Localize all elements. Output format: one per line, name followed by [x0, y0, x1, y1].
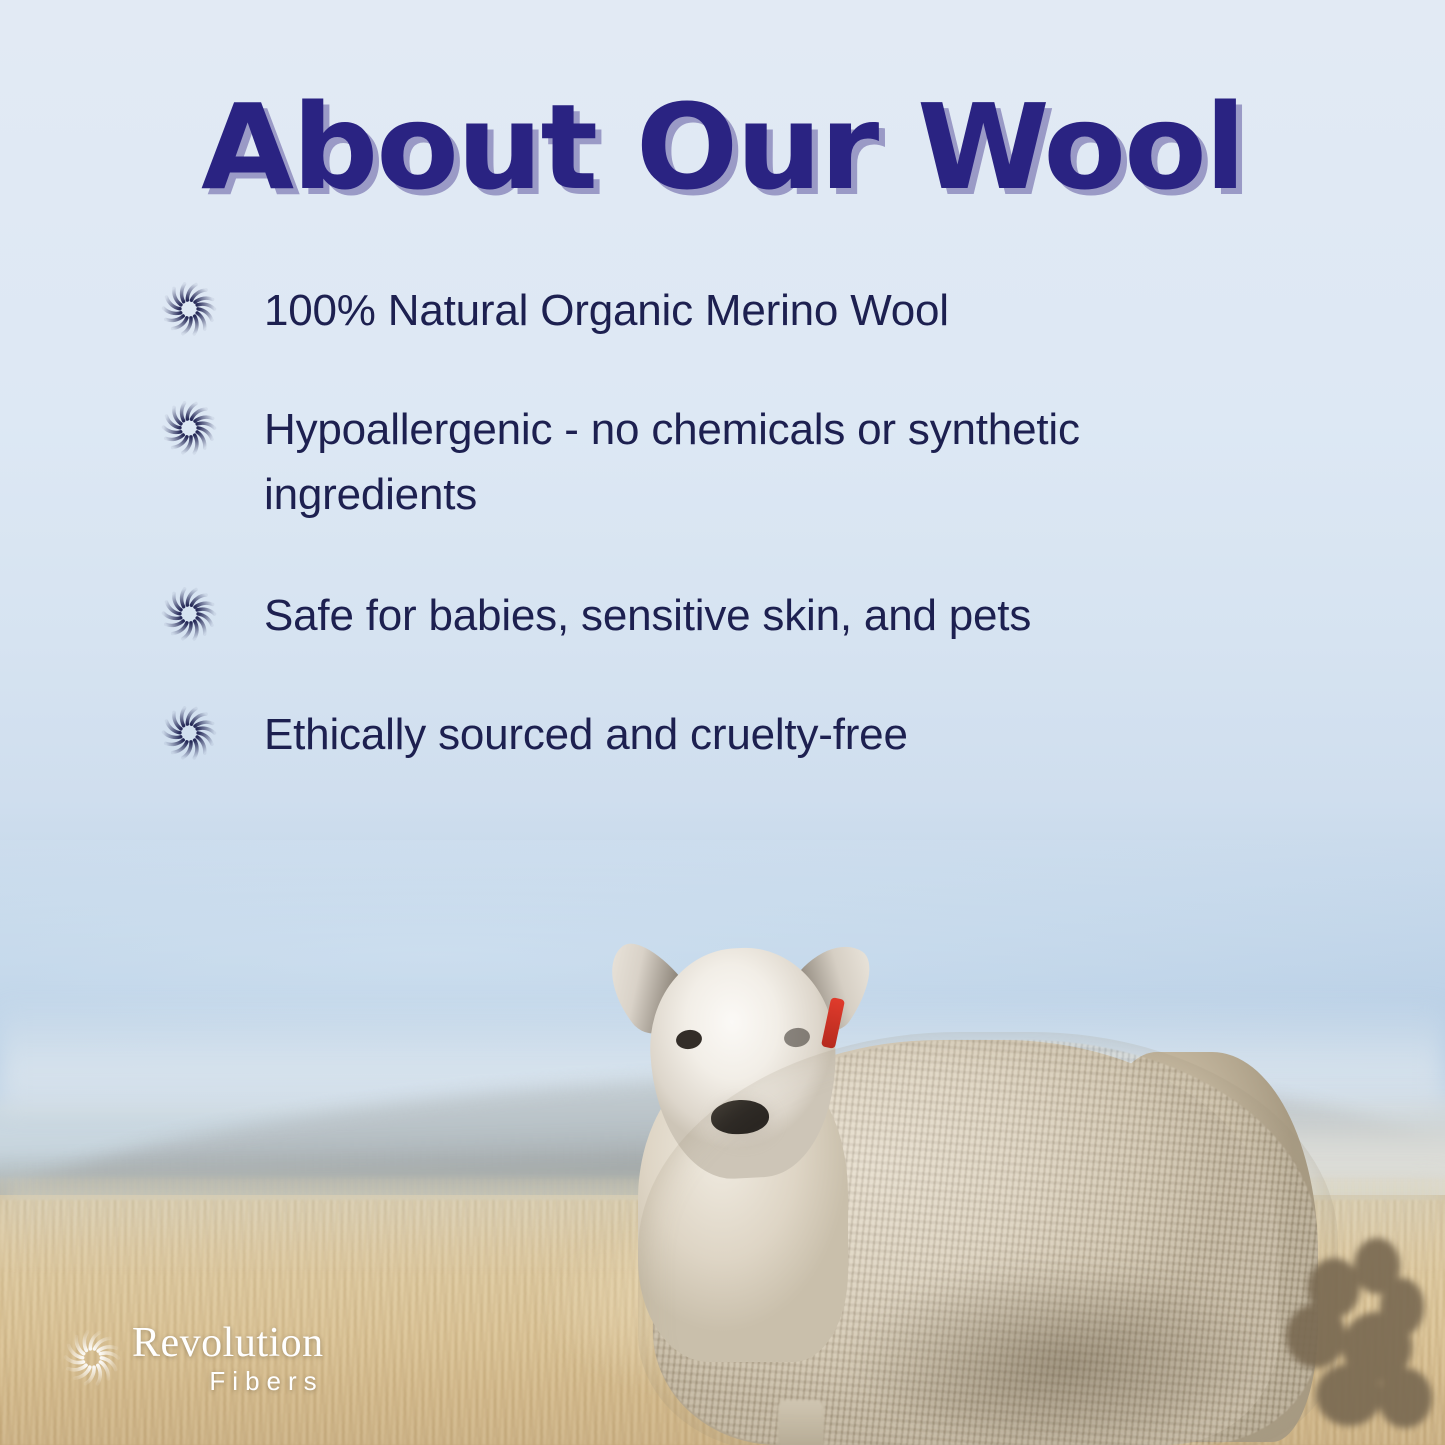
spiral-swirl-logo-mark: [62, 1328, 122, 1388]
sheep-edge-softening: [638, 1032, 1338, 1445]
sheep-photo: [548, 912, 1338, 1445]
list-item: Ethically sourced and cruelty-free: [160, 702, 1300, 767]
list-item-label: Safe for babies, sensitive skin, and pet…: [264, 583, 1031, 648]
shrub-icon: [1268, 1218, 1445, 1445]
list-item: Hypoallergenic - no chemicals or synthet…: [160, 397, 1300, 527]
infographic-canvas: About Our Wool: [0, 0, 1445, 1445]
spiral-swirl-icon: [160, 280, 218, 338]
brand-name: Revolution: [132, 1322, 324, 1364]
spiral-swirl-icon: [160, 585, 218, 643]
feature-list: 100% Natural Organic Merino Wool: [160, 278, 1300, 822]
list-item-label: 100% Natural Organic Merino Wool: [264, 278, 949, 343]
list-item: 100% Natural Organic Merino Wool: [160, 278, 1300, 343]
brand-subname: Fibers: [132, 1368, 324, 1394]
page-title: About Our Wool: [0, 78, 1445, 216]
spiral-swirl-icon: [160, 704, 218, 762]
spiral-swirl-icon: [160, 399, 218, 457]
list-item-label: Ethically sourced and cruelty-free: [264, 702, 908, 767]
brand-logo: Revolution Fibers: [62, 1322, 324, 1394]
brand-wordmark: Revolution Fibers: [132, 1322, 324, 1394]
list-item-label: Hypoallergenic - no chemicals or synthet…: [264, 397, 1294, 527]
list-item: Safe for babies, sensitive skin, and pet…: [160, 583, 1300, 648]
